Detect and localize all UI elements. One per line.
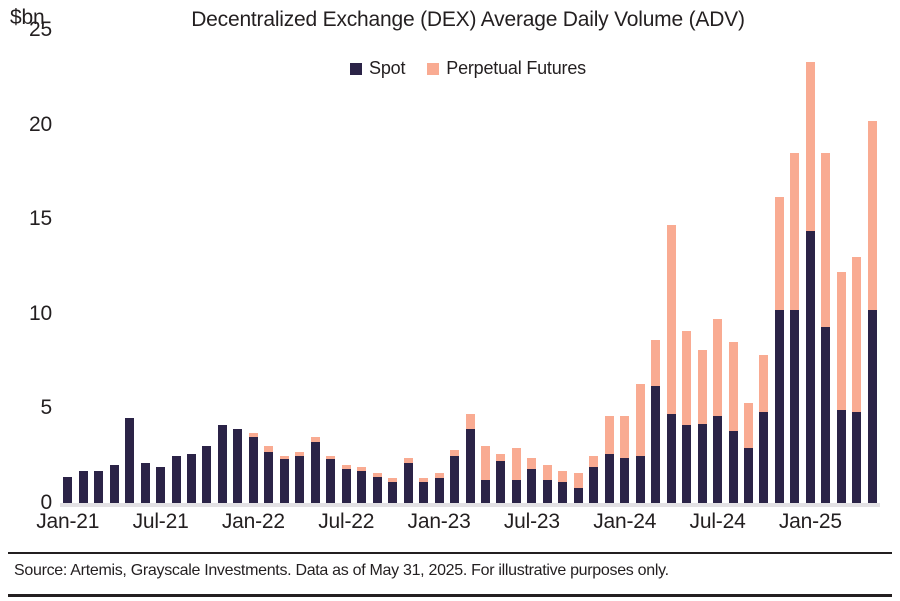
bar-segment-perpetual-futures — [326, 456, 335, 460]
bar-column[interactable] — [868, 121, 877, 503]
bar-segment-perpetual-futures — [249, 433, 258, 437]
bar-column[interactable] — [466, 414, 475, 503]
bar-segment-perpetual-futures — [790, 153, 799, 310]
bar-segment-spot — [775, 310, 784, 503]
bar-segment-perpetual-futures — [775, 197, 784, 311]
bar-column[interactable] — [852, 257, 861, 503]
bar-segment-perpetual-futures — [373, 473, 382, 477]
bar-segment-perpetual-futures — [759, 355, 768, 412]
bar-segment-spot — [837, 410, 846, 503]
x-axis-tick-label: Jul-24 — [690, 510, 746, 534]
bar-segment-spot — [543, 480, 552, 503]
bar-segment-spot — [110, 465, 119, 503]
bar-segment-spot — [806, 231, 815, 503]
bar-segment-spot — [729, 431, 738, 503]
bar-column[interactable] — [574, 473, 583, 503]
bar-column[interactable] — [404, 458, 413, 503]
bar-segment-perpetual-futures — [527, 458, 536, 469]
bar-segment-perpetual-futures — [388, 478, 397, 482]
bar-segment-perpetual-futures — [435, 473, 444, 479]
bar-segment-spot — [821, 327, 830, 503]
bar-segment-perpetual-futures — [574, 473, 583, 488]
bar-segment-spot — [79, 471, 88, 503]
bar-column[interactable] — [450, 450, 459, 503]
bar-column[interactable] — [806, 62, 815, 503]
bar-segment-spot — [868, 310, 877, 503]
bar-segment-spot — [218, 425, 227, 503]
bar-segment-perpetual-futures — [512, 448, 521, 480]
bar-segment-perpetual-futures — [280, 456, 289, 460]
bar-segment-spot — [450, 456, 459, 503]
bar-column[interactable] — [729, 342, 738, 503]
bar-segment-spot — [667, 414, 676, 503]
bar-segment-spot — [682, 425, 691, 503]
bar-segment-spot — [558, 482, 567, 503]
bar-segment-spot — [636, 456, 645, 503]
bar-segment-spot — [620, 458, 629, 503]
bar-segment-spot — [790, 310, 799, 503]
x-axis-tick-label: Jan-24 — [593, 510, 656, 534]
x-axis-labels: Jan-21Jul-21Jan-22Jul-22Jan-23Jul-23Jan-… — [60, 510, 880, 546]
x-axis-tick-label: Jul-22 — [318, 510, 374, 534]
bar-column[interactable] — [342, 465, 351, 503]
bar-segment-perpetual-futures — [636, 384, 645, 456]
footer-divider — [8, 552, 892, 554]
y-axis-tick-label: 15 — [6, 207, 52, 231]
chart-figure: $bn Decentralized Exchange (DEX) Average… — [0, 0, 900, 601]
x-axis-line — [60, 503, 880, 507]
bar-column[interactable] — [605, 416, 614, 503]
bar-segment-spot — [373, 477, 382, 503]
bar-column[interactable] — [125, 418, 134, 503]
source-note: Source: Artemis, Grayscale Investments. … — [14, 562, 669, 580]
bar-segment-perpetual-futures — [342, 465, 351, 469]
bar-segment-perpetual-futures — [852, 257, 861, 412]
bar-column[interactable] — [589, 456, 598, 503]
plot-area — [60, 30, 880, 503]
bar-column[interactable] — [249, 433, 258, 503]
y-axis-tick-label: 5 — [6, 396, 52, 420]
bar-column[interactable] — [295, 452, 304, 503]
bars-layer — [60, 30, 880, 503]
bar-segment-spot — [125, 418, 134, 503]
bar-column[interactable] — [698, 350, 707, 503]
bar-segment-perpetual-futures — [481, 446, 490, 480]
bar-column[interactable] — [682, 331, 691, 503]
bar-segment-spot — [187, 454, 196, 503]
bar-column[interactable] — [110, 465, 119, 503]
y-axis-tick-label: 10 — [6, 302, 52, 326]
bar-segment-spot — [698, 424, 707, 503]
bar-column[interactable] — [821, 153, 830, 503]
bar-segment-spot — [466, 429, 475, 503]
bottom-divider — [8, 594, 892, 597]
bar-column[interactable] — [512, 448, 521, 503]
bar-segment-spot — [605, 454, 614, 503]
bar-segment-perpetual-futures — [311, 437, 320, 443]
bar-column[interactable] — [264, 446, 273, 503]
x-axis-tick-label: Jul-23 — [504, 510, 560, 534]
bar-column[interactable] — [744, 403, 753, 503]
bar-column[interactable] — [141, 463, 150, 503]
bar-column[interactable] — [218, 425, 227, 503]
bar-segment-perpetual-futures — [682, 331, 691, 426]
bar-segment-perpetual-futures — [450, 450, 459, 456]
bar-segment-perpetual-futures — [806, 62, 815, 230]
bar-segment-spot — [404, 463, 413, 503]
bar-segment-perpetual-futures — [295, 452, 304, 456]
bar-segment-spot — [512, 480, 521, 503]
bar-segment-perpetual-futures — [466, 414, 475, 429]
bar-column[interactable] — [527, 458, 536, 503]
bar-segment-perpetual-futures — [605, 416, 614, 454]
bar-segment-spot — [852, 412, 861, 503]
x-axis-tick-label: Jul-21 — [133, 510, 189, 534]
bar-segment-spot — [295, 456, 304, 503]
bar-column[interactable] — [79, 471, 88, 503]
bar-segment-spot — [326, 459, 335, 503]
bar-column[interactable] — [790, 153, 799, 503]
bar-segment-perpetual-futures — [837, 272, 846, 410]
bar-segment-spot — [311, 442, 320, 503]
bar-segment-spot — [249, 437, 258, 503]
bar-segment-perpetual-futures — [620, 416, 629, 458]
bar-segment-spot — [574, 488, 583, 503]
bar-segment-perpetual-futures — [589, 456, 598, 467]
y-axis: 0510152025 — [0, 30, 52, 503]
bar-segment-spot — [342, 469, 351, 503]
bar-segment-perpetual-futures — [558, 471, 567, 482]
bar-segment-perpetual-futures — [404, 458, 413, 464]
bar-segment-spot — [759, 412, 768, 503]
bar-column[interactable] — [636, 384, 645, 503]
chart-title: Decentralized Exchange (DEX) Average Dai… — [0, 8, 900, 32]
bar-column[interactable] — [759, 355, 768, 503]
bar-column[interactable] — [326, 456, 335, 503]
bar-column[interactable] — [156, 467, 165, 503]
bar-segment-perpetual-futures — [729, 342, 738, 431]
bar-segment-spot — [172, 456, 181, 503]
bar-segment-perpetual-futures — [264, 446, 273, 452]
x-axis-tick-label: Jan-21 — [36, 510, 99, 534]
bar-segment-perpetual-futures — [698, 350, 707, 424]
bar-segment-spot — [527, 469, 536, 503]
bar-segment-spot — [481, 480, 490, 503]
bar-segment-perpetual-futures — [496, 454, 505, 462]
bar-segment-spot — [589, 467, 598, 503]
bar-column[interactable] — [837, 272, 846, 503]
y-axis-tick-label: 20 — [6, 113, 52, 137]
bar-segment-spot — [713, 416, 722, 503]
bar-column[interactable] — [311, 437, 320, 503]
x-axis-tick-label: Jan-23 — [408, 510, 471, 534]
bar-segment-perpetual-futures — [543, 465, 552, 480]
bar-column[interactable] — [94, 471, 103, 503]
bar-segment-perpetual-futures — [744, 403, 753, 448]
bar-segment-perpetual-futures — [868, 121, 877, 310]
x-axis-tick-label: Jan-22 — [222, 510, 285, 534]
bar-column[interactable] — [775, 197, 784, 504]
bar-segment-perpetual-futures — [667, 225, 676, 414]
bar-column[interactable] — [187, 454, 196, 503]
bar-segment-spot — [280, 459, 289, 503]
bar-segment-perpetual-futures — [357, 467, 366, 471]
bar-segment-spot — [388, 482, 397, 503]
bar-segment-spot — [496, 461, 505, 503]
bar-column[interactable] — [496, 454, 505, 503]
bar-segment-spot — [357, 471, 366, 503]
bar-segment-spot — [419, 482, 428, 503]
bar-segment-perpetual-futures — [419, 478, 428, 482]
bar-segment-perpetual-futures — [821, 153, 830, 327]
bar-segment-spot — [651, 386, 660, 503]
bar-column[interactable] — [233, 429, 242, 503]
bar-segment-spot — [94, 471, 103, 503]
bar-segment-spot — [233, 429, 242, 503]
bar-column[interactable] — [373, 473, 382, 503]
bar-column[interactable] — [543, 465, 552, 503]
bar-segment-spot — [435, 478, 444, 503]
y-axis-tick-label: 25 — [6, 18, 52, 42]
bar-column[interactable] — [558, 471, 567, 503]
bar-column[interactable] — [202, 446, 211, 503]
bar-column[interactable] — [651, 340, 660, 503]
bar-column[interactable] — [63, 477, 72, 503]
bar-column[interactable] — [388, 478, 397, 503]
bar-column[interactable] — [172, 456, 181, 503]
bar-column[interactable] — [435, 473, 444, 503]
bar-column[interactable] — [713, 319, 722, 503]
bar-segment-perpetual-futures — [651, 340, 660, 385]
bar-segment-spot — [264, 452, 273, 503]
bar-column[interactable] — [419, 478, 428, 503]
bar-segment-spot — [202, 446, 211, 503]
bar-segment-spot — [141, 463, 150, 503]
bar-segment-perpetual-futures — [713, 319, 722, 415]
bar-column[interactable] — [667, 225, 676, 503]
bar-column[interactable] — [280, 456, 289, 503]
bar-segment-spot — [744, 448, 753, 503]
bar-column[interactable] — [357, 467, 366, 503]
bar-segment-spot — [156, 467, 165, 503]
bar-column[interactable] — [481, 446, 490, 503]
x-axis-tick-label: Jan-25 — [779, 510, 842, 534]
bar-column[interactable] — [620, 416, 629, 503]
bar-segment-spot — [63, 477, 72, 503]
